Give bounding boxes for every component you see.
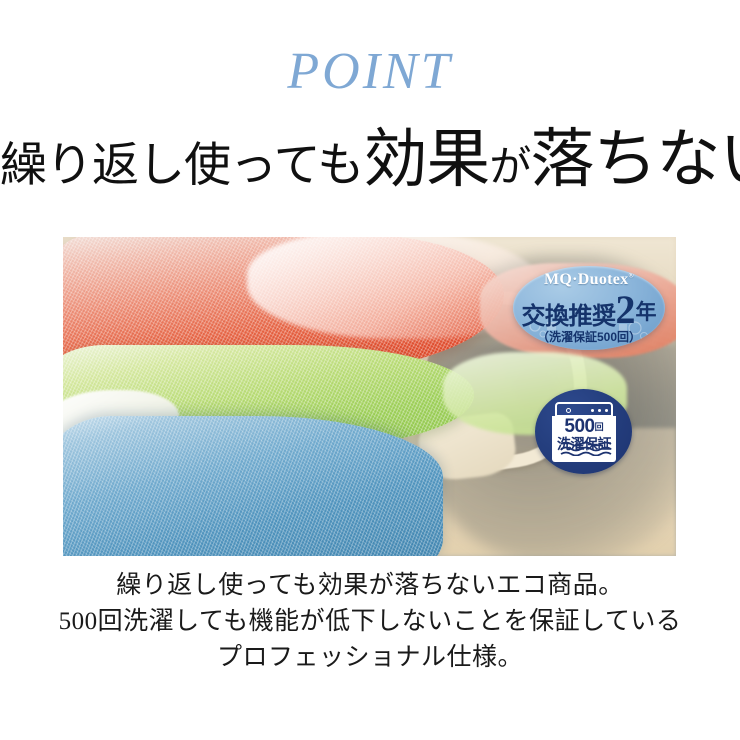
badge-unit: 年 (636, 301, 657, 324)
badge-brand-name: MQ·Duotex® (513, 272, 665, 288)
washing-machine-icon: 500回 洗濯保証 (552, 402, 616, 462)
washer-body: 500回 洗濯保証 (552, 416, 616, 462)
headline-part-2: 効果 (363, 124, 489, 195)
badge-replacement-recommendation: MQ·Duotex® 交換推奨2年 （洗濯保証500回） (513, 266, 665, 350)
washer-indicator-2 (598, 409, 601, 412)
description-text: 繰り返し使っても効果が落ちないエコ商品。 500回洗濯しても機能が低下しないこと… (0, 568, 740, 676)
badge-brand-text: MQ·Duotex (544, 271, 628, 288)
washer-lid (555, 402, 613, 417)
wash-count-number: 500 (564, 416, 594, 437)
badge-warranty-note: （洗濯保証500回） (513, 331, 665, 343)
description-line-1: 繰り返し使っても効果が落ちないエコ商品。 (0, 568, 740, 604)
badge-number: 2 (616, 287, 636, 332)
point-eyebrow-heading: POINT (0, 46, 740, 98)
headline-part-4: 落ちない (530, 124, 740, 195)
wash-count-unit: 回 (595, 422, 604, 432)
headline-part-1: 繰り返し使っても (0, 140, 363, 192)
washer-indicator-3 (605, 409, 608, 412)
washer-knob-icon (566, 408, 571, 413)
water-waves-icon (560, 441, 612, 456)
headline-part-3: が (489, 145, 530, 191)
badge-wash-warranty: 500回 洗濯保証 (535, 389, 632, 474)
badge-label: 交換推奨 (522, 303, 616, 330)
cloth-blue (63, 416, 443, 556)
page-title: 繰り返し使っても効果が落ちない (0, 128, 740, 192)
description-line-3: プロフェッショナル仕様。 (0, 640, 740, 676)
badge-trademark: ® (628, 272, 634, 280)
washer-indicator-1 (591, 409, 594, 412)
badge-main-line: 交換推奨2年 (513, 290, 665, 330)
description-line-2: 500回洗濯しても機能が低下しないことを保証している (0, 604, 740, 640)
